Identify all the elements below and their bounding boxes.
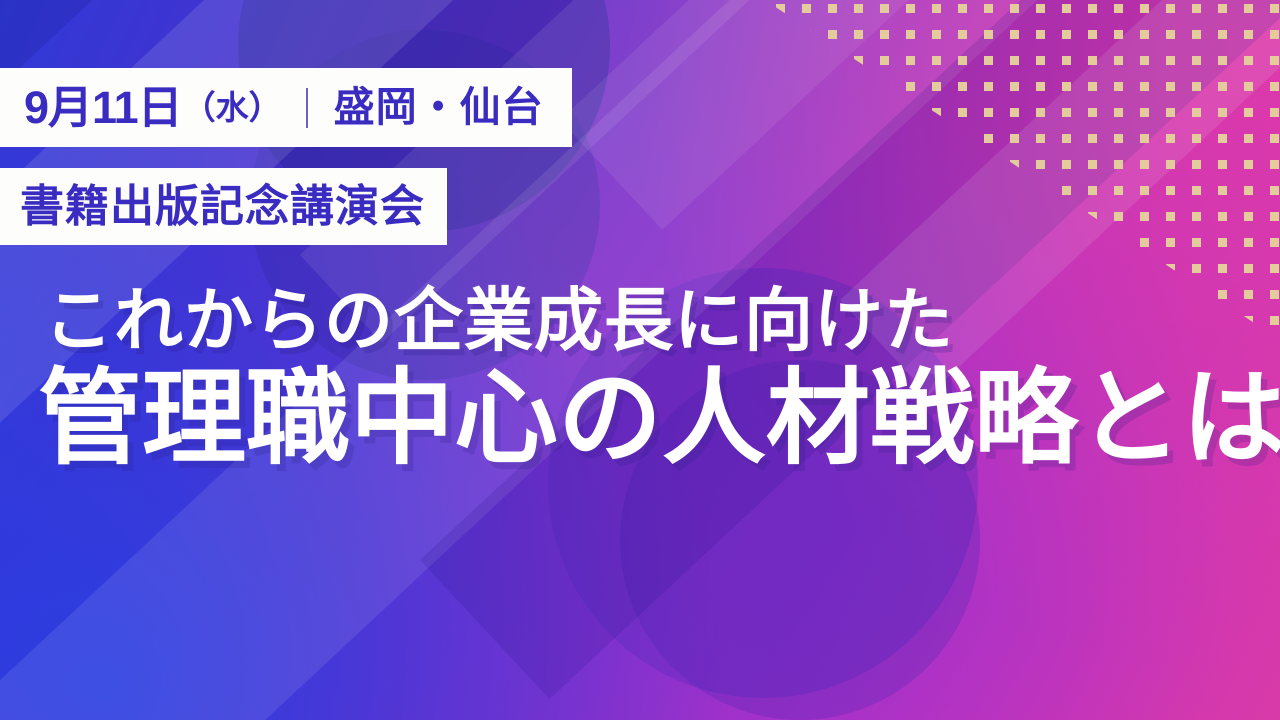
event-venue: 盛岡・仙台: [334, 87, 544, 128]
event-type-banner: 書籍出版記念講演会: [0, 168, 447, 245]
banner-divider: [306, 88, 308, 128]
event-weekday: （水）: [183, 91, 282, 124]
poster-title-block: これからの企業成長に向けた 管理職中心の人材戦略とは: [0, 284, 1280, 473]
poster-content: 9月11日 （水） 盛岡・仙台 書籍出版記念講演会 これからの企業成長に向けた …: [0, 0, 1280, 720]
date-banner: 9月11日 （水） 盛岡・仙台: [0, 68, 572, 147]
title-line-1: これからの企業成長に向けた: [44, 284, 1280, 359]
event-date: 9月11日: [24, 85, 182, 130]
poster-canvas: 9月11日 （水） 盛岡・仙台 書籍出版記念講演会 これからの企業成長に向けた …: [0, 0, 1280, 720]
title-line-2: 管理職中心の人材戦略とは: [38, 365, 1280, 473]
event-type-label: 書籍出版記念講演会: [20, 185, 425, 229]
